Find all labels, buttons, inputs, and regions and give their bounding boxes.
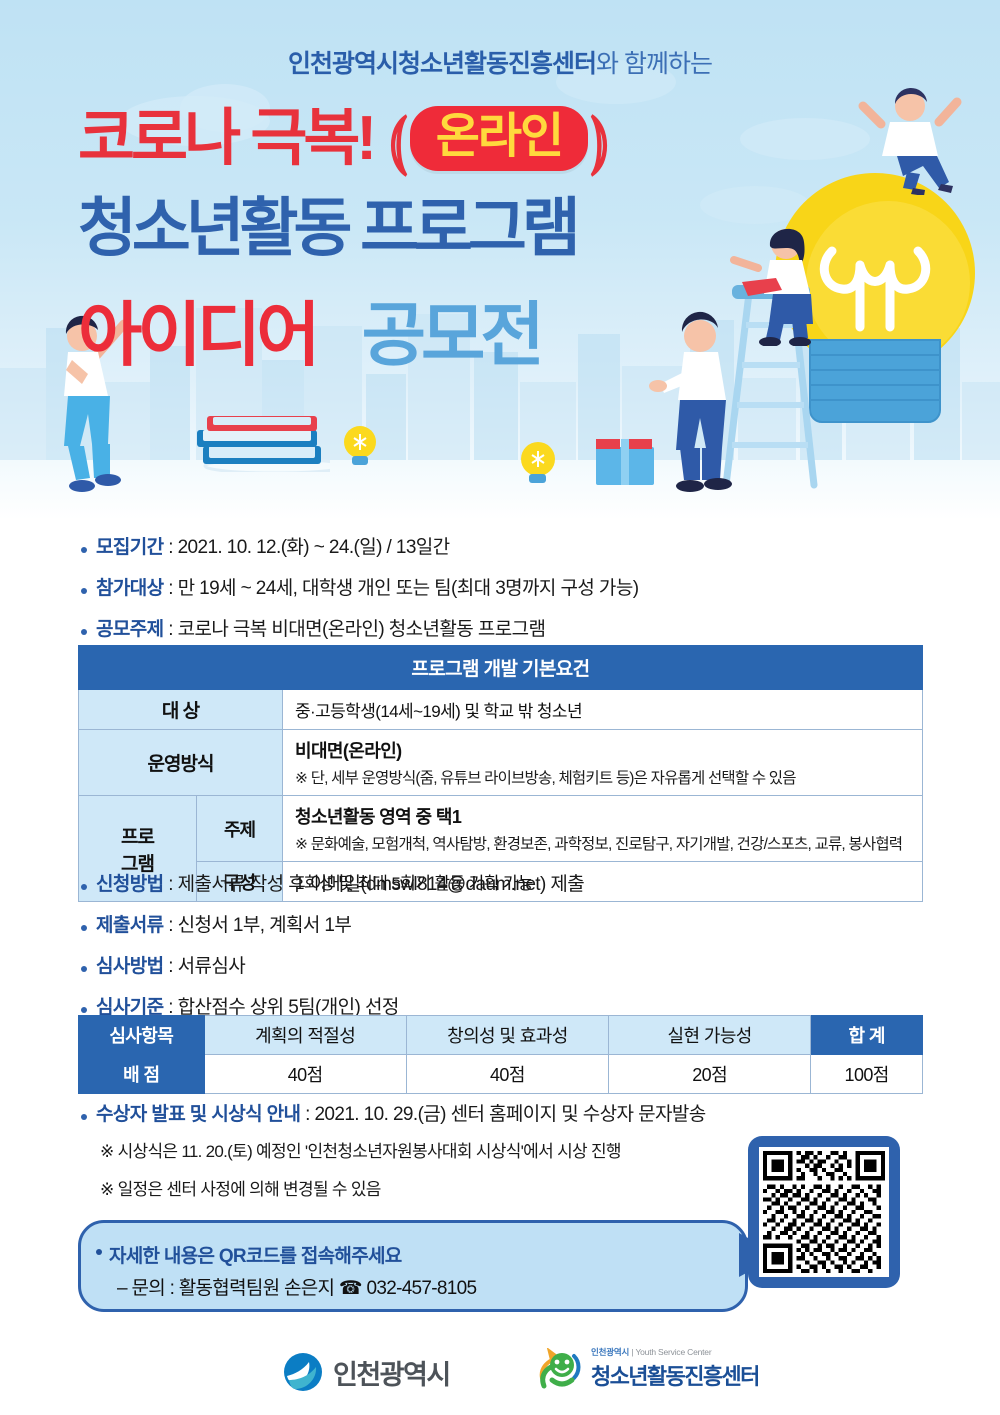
info-value: : 만 19세 ~ 24세, 대학생 개인 또는 팀(최대 3명까지 구성 가능… <box>164 578 639 599</box>
wave-right-icon: ⦆ <box>590 104 609 174</box>
list-item: 제출서류 : 신청서 1부, 계획서 1부 <box>78 916 584 935</box>
incheon-wave-icon <box>283 1352 323 1392</box>
method-value: 비대면(온라인) <box>295 737 910 763</box>
info-list-bottom: 수상자 발표 및 시상식 안내 : 2021. 10. 29.(금) 센터 홈페… <box>78 1105 706 1200</box>
bubble-line-2: – 문의 : 활동협력팀원 손은지 ☎ 032-457-8105 <box>117 1273 476 1300</box>
award-note-1: ※ 시상식은 11. 20.(토) 예정인 '인천청소년자원봉사대회 시상식'에… <box>100 1137 706 1162</box>
poster: 인천광역시청소년활동진흥센터와 함께하는 코로나 극복! ⦅ 온라인 ⦆ 청소년… <box>0 0 1000 1415</box>
title-line-1: 코로나 극복! ⦅ 온라인 ⦆ <box>78 106 611 171</box>
score-column-2: 창의성 및 효과성 <box>406 1016 608 1055</box>
info-value: : 서류심사 <box>164 956 246 977</box>
info-key: 신청방법 <box>96 874 164 895</box>
qr-code-box[interactable] <box>748 1136 900 1288</box>
info-value: : 신청서 1부, 계획서 1부 <box>164 915 352 936</box>
info-value: : 2021. 10. 12.(화) ~ 24.(일) / 13일간 <box>164 537 450 558</box>
youth-center-sub-label: 인천광역시 | Youth Service Center <box>591 1346 759 1358</box>
title-idea-text: 아이디어 <box>78 296 316 374</box>
qr-speech-bubble: 자세한 내용은 QR코드를 접속해주세요 – 문의 : 활동협력팀원 손은지 ☎… <box>78 1220 748 1312</box>
youth-center-logo: 인천광역시 | Youth Service Center 청소년활동진흥센터 <box>536 1346 759 1391</box>
score-value-3: 20점 <box>609 1055 811 1094</box>
list-item: 공모주제 : 코로나 극복 비대면(온라인) 청소년활동 프로그램 <box>78 620 638 639</box>
score-value-2: 40점 <box>406 1055 608 1094</box>
score-row-label: 배 점 <box>79 1055 205 1094</box>
award-note-2: ※ 일정은 센터 사정에 의해 변경될 수 있음 <box>100 1175 706 1200</box>
table-row: 운영방식 비대면(온라인) ※ 단, 세부 운영방식(줌, 유튜브 라이브방송,… <box>79 730 923 796</box>
method-cell: 비대면(온라인) ※ 단, 세부 운영방식(줌, 유튜브 라이브방송, 체험키트… <box>283 730 923 796</box>
score-column-3: 실현 가능성 <box>609 1016 811 1055</box>
table-row: 프로 그램 주제 청소년활동 영역 중 택1 ※ 문화예술, 모험개척, 역사탐… <box>79 796 923 862</box>
score-sum-label: 합 계 <box>811 1016 923 1055</box>
qr-code-icon <box>763 1151 885 1273</box>
info-value: : 2021. 10. 29.(금) 센터 홈페이지 및 수상자 문자발송 <box>300 1104 705 1125</box>
target-label: 대 상 <box>79 690 283 730</box>
books-illustration <box>195 410 330 472</box>
youth-center-label: 청소년활동진흥센터 <box>591 1359 759 1391</box>
title-contest-text: 공모전 <box>362 296 540 374</box>
title-line-3: 아이디어공모전 <box>78 300 540 370</box>
target-value: 중·고등학생(14세~19세) 및 학교 밖 청소년 <box>283 690 923 730</box>
table-row: 심사항목 계획의 적절성 창의성 및 효과성 실현 가능성 합 계 <box>79 1016 923 1055</box>
qr-code-inner <box>759 1147 889 1277</box>
online-badge-group: ⦅ 온라인 ⦆ <box>387 106 611 171</box>
pretitle-light: 와 함께하는 <box>596 50 712 78</box>
title-red-text: 코로나 극복! <box>78 108 373 170</box>
score-value-1: 40점 <box>204 1055 406 1094</box>
small-bulb-icon <box>516 440 560 490</box>
title-line-2: 청소년활동 프로그램 <box>78 196 576 260</box>
youth-center-sub-left: 인천광역시 <box>591 1347 629 1357</box>
info-key: 제출서류 <box>96 915 164 936</box>
bubble-line-1: 자세한 내용은 QR코드를 접속해주세요 <box>109 1241 402 1268</box>
program-label-line1: 프로 <box>89 822 186 849</box>
youth-center-mascot-icon <box>536 1348 582 1390</box>
youth-center-text-stack: 인천광역시 | Youth Service Center 청소년활동진흥센터 <box>591 1346 759 1391</box>
page-pretitle: 인천광역시청소년활동진흥센터와 함께하는 <box>0 44 1000 80</box>
score-table: 심사항목 계획의 적절성 창의성 및 효과성 실현 가능성 합 계 배 점 40… <box>78 1015 923 1094</box>
method-note: ※ 단, 세부 운영방식(줌, 유튜브 라이브방송, 체험키트 등)은 자유롭게… <box>295 766 910 788</box>
info-key: 심사방법 <box>96 956 164 977</box>
person-right-illustration <box>640 300 750 496</box>
topic-cell: 청소년활동 영역 중 택1 ※ 문화예술, 모험개척, 역사탐방, 환경보존, … <box>283 796 923 862</box>
table-row: 배 점 40점 40점 20점 100점 <box>79 1055 923 1094</box>
small-bulb-icon <box>340 424 380 470</box>
info-key: 수상자 발표 및 시상식 안내 <box>96 1104 300 1125</box>
requirements-table: 프로그램 개발 기본요건 대 상 중·고등학생(14세~19세) 및 학교 밖 … <box>78 645 923 902</box>
pretitle-strong: 인천광역시청소년활동진흥센터 <box>288 50 596 78</box>
hero-section: 인천광역시청소년활동진흥센터와 함께하는 코로나 극복! ⦅ 온라인 ⦆ 청소년… <box>0 0 1000 520</box>
score-column-1: 계획의 적절성 <box>204 1016 406 1055</box>
list-item: 모집기간 : 2021. 10. 12.(화) ~ 24.(일) / 13일간 <box>78 538 638 557</box>
table-row: 대 상 중·고등학생(14세~19세) 및 학교 밖 청소년 <box>79 690 923 730</box>
incheon-city-logo: 인천광역시 <box>283 1352 450 1392</box>
list-item: 신청방법 : 제출서류 작성 후 이메일(dmswl814@daum.net) … <box>78 875 584 894</box>
info-key: 공모주제 <box>96 619 164 640</box>
list-item: 심사방법 : 서류심사 <box>78 957 584 976</box>
requirements-table-header: 프로그램 개발 기본요건 <box>79 646 923 690</box>
method-label: 운영방식 <box>79 730 283 796</box>
list-item: 참가대상 : 만 19세 ~ 24세, 대학생 개인 또는 팀(최대 3명까지 … <box>78 579 638 598</box>
table-row: 프로그램 개발 기본요건 <box>79 646 923 690</box>
wave-left-icon: ⦅ <box>389 104 408 174</box>
program-label-line2: 그램 <box>89 849 186 876</box>
person-on-bulb-illustration <box>845 80 975 195</box>
score-total: 100점 <box>811 1055 923 1094</box>
info-key: 모집기간 <box>96 537 164 558</box>
info-value: : 코로나 극복 비대면(온라인) 청소년활동 프로그램 <box>164 619 546 640</box>
topic-label: 주제 <box>197 796 283 862</box>
topic-note: ※ 문화예술, 모험개척, 역사탐방, 환경보존, 과학정보, 진로탐구, 자기… <box>295 832 910 854</box>
score-row-header-label: 심사항목 <box>79 1016 205 1055</box>
info-list-top: 모집기간 : 2021. 10. 12.(화) ~ 24.(일) / 13일간 … <box>78 538 638 661</box>
footer-section: 인천광역시 인천광역시 | Youth Service Center 청소년활동… <box>0 1340 1000 1415</box>
incheon-city-label: 인천광역시 <box>333 1353 450 1392</box>
online-badge: 온라인 <box>410 106 588 171</box>
info-value: : 제출서류 작성 후 이메일(dmswl814@daum.net) 제출 <box>164 874 585 895</box>
topic-value: 청소년활동 영역 중 택1 <box>295 803 910 829</box>
info-key: 참가대상 <box>96 578 164 599</box>
youth-center-sub-right: Youth Service Center <box>635 1347 711 1357</box>
list-item: 수상자 발표 및 시상식 안내 : 2021. 10. 29.(금) 센터 홈페… <box>78 1105 706 1124</box>
